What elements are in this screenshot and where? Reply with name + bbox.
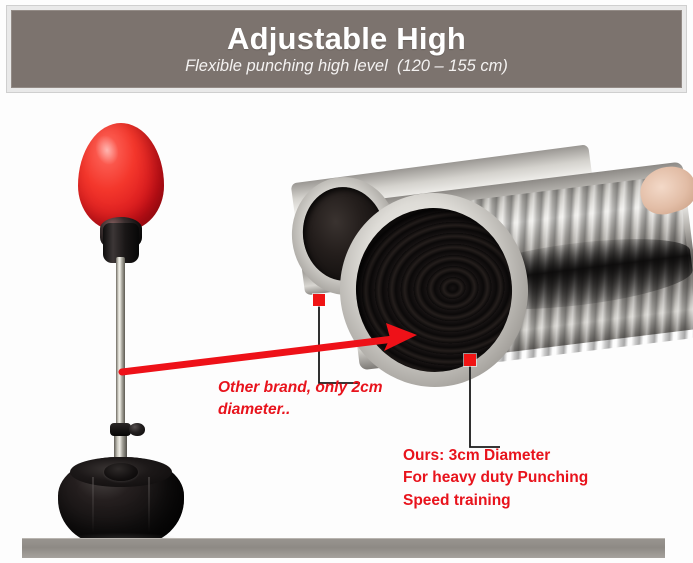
page-title: Adjustable High <box>227 23 466 56</box>
red-punching-ball <box>78 123 164 231</box>
height-adjust-knob <box>129 423 145 436</box>
upper-pole <box>116 257 125 427</box>
base-hub <box>104 463 138 481</box>
height-adjust-clamp <box>110 423 131 436</box>
callout-ours: Ours: 3cm Diameter For heavy duty Punchi… <box>403 445 653 512</box>
tube-comparison-photo <box>290 175 693 405</box>
product-feature-image: Adjustable High Flexible punching high l… <box>0 0 693 563</box>
footer-bar <box>22 538 665 558</box>
page-subtitle: Flexible punching high level (120 – 155 … <box>185 57 508 75</box>
header-banner: Adjustable High Flexible punching high l… <box>11 10 682 88</box>
base-seam-left <box>92 477 94 533</box>
punching-ball-product-photo <box>30 105 190 535</box>
photo-stage: Other brand, only 2cm diameter.. Ours: 3… <box>0 95 693 535</box>
callout-other-brand: Other brand, only 2cm diameter.. <box>218 377 438 422</box>
base-seam-right <box>148 477 150 533</box>
marker-other-brand <box>313 294 325 306</box>
marker-ours <box>464 354 476 366</box>
header-banner-frame: Adjustable High Flexible punching high l… <box>6 5 687 93</box>
